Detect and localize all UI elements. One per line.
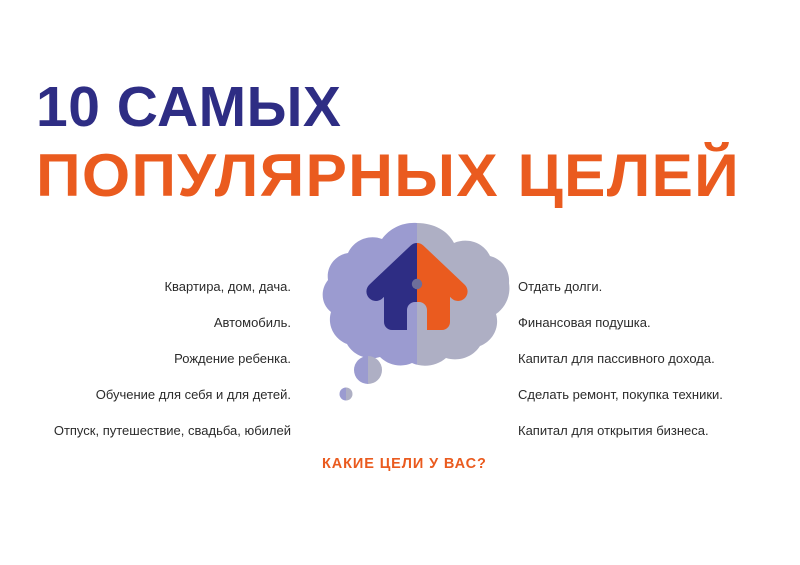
- list-item: Финансовая подушка.: [518, 315, 800, 351]
- list-item: Автомобиль.: [0, 315, 291, 351]
- goals-list-left: Квартира, дом, дача. Автомобиль. Рождени…: [0, 279, 291, 459]
- title-line-primary: 10 САМЫХ: [36, 78, 736, 136]
- list-item: Рождение ребенка.: [0, 351, 291, 387]
- poster-canvas: 10 САМЫХ ПОПУЛЯРНЫХ ЦЕЛЕЙ Квартира, дом,…: [0, 0, 800, 565]
- thought-trail-bubble-large: [354, 356, 382, 384]
- goals-list-right: Отдать долги. Финансовая подушка. Капита…: [518, 279, 800, 459]
- list-item: Отдать долги.: [518, 279, 800, 315]
- title-line-secondary: ПОПУЛЯРНЫХ ЦЕЛЕЙ: [36, 145, 761, 206]
- page-title: 10 САМЫХ ПОПУЛЯРНЫХ ЦЕЛЕЙ: [36, 78, 736, 206]
- thought-bubble-icon: [322, 216, 512, 408]
- list-item: Обучение для себя и для детей.: [0, 387, 291, 423]
- thought-bubble-graphic: [322, 216, 512, 408]
- list-item: Отпуск, путешествие, свадьба, юбилей: [0, 423, 291, 459]
- call-to-action-text: КАКИЕ ЦЕЛИ У ВАС?: [322, 456, 487, 472]
- thought-trail-bubble-small: [340, 388, 353, 401]
- list-item: Капитал для открытия бизнеса.: [518, 423, 800, 459]
- list-item: Капитал для пассивного дохода.: [518, 351, 800, 387]
- house-window-icon: [412, 279, 422, 289]
- list-item: Квартира, дом, дача.: [0, 279, 291, 315]
- list-item: Сделать ремонт, покупка техники.: [518, 387, 800, 423]
